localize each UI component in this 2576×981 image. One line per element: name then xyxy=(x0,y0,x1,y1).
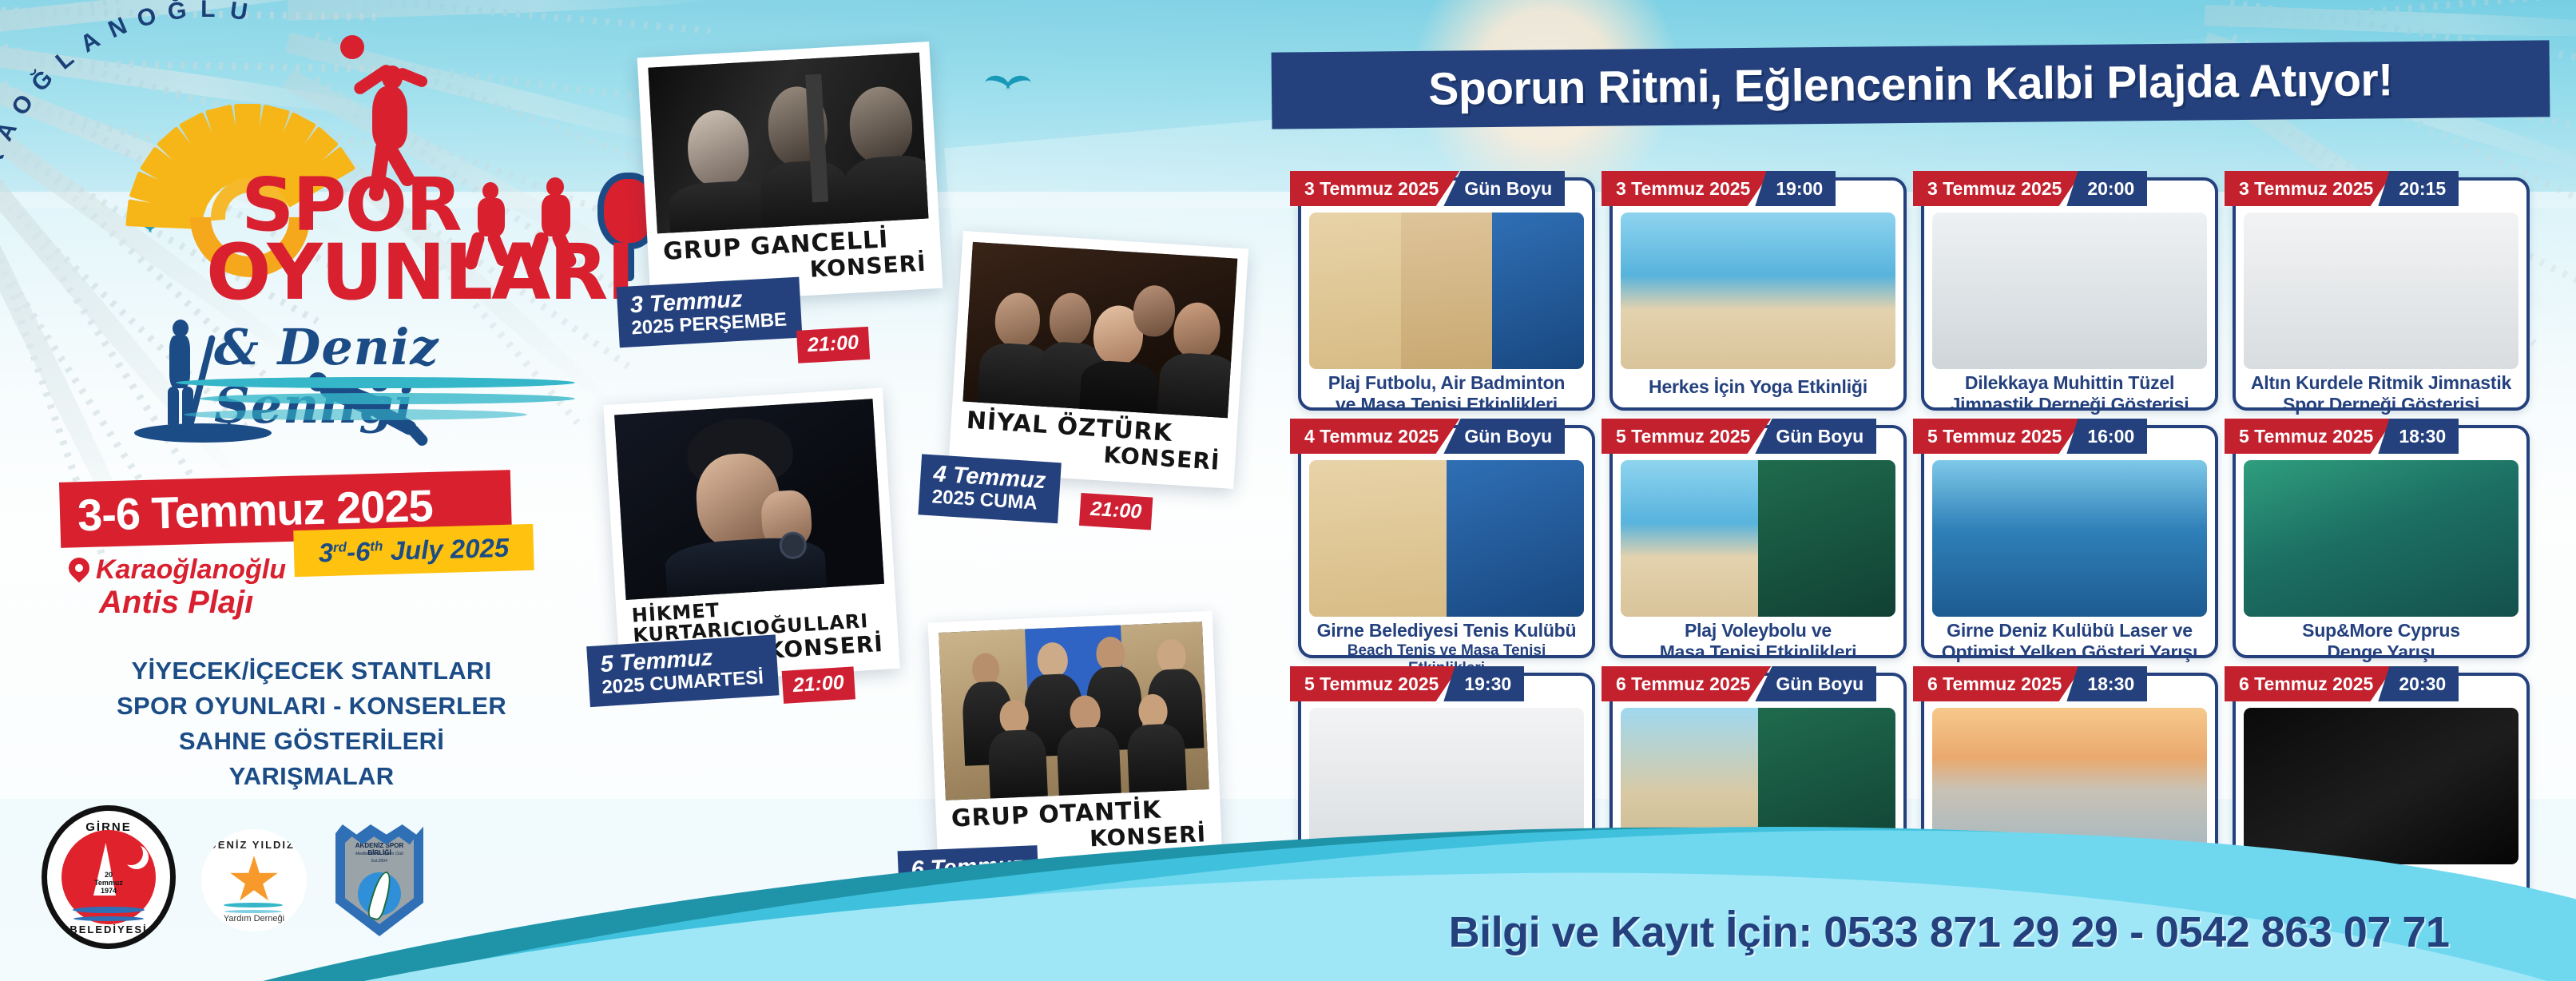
concert-time-badge: 21:00 xyxy=(782,666,855,704)
event-text: Dilekkaya Muhittin TüzelJimnastik Derneğ… xyxy=(1932,369,2207,415)
logo-wave-decor xyxy=(176,377,591,425)
event-date-ribbon: 4 Temmuz 2025 xyxy=(1290,419,1459,454)
event-date-ribbon: 5 Temmuz 2025 xyxy=(2225,419,2394,454)
arc-title-letter: L xyxy=(200,0,216,23)
event-text: Girne Deniz Kulübü Laser veOptimist Yelk… xyxy=(1932,617,2207,662)
concert-card[interactable]: HİKMET KURTARICIOĞULLARI KONSERİ 5 Temmu… xyxy=(603,387,899,685)
event-photo-panel xyxy=(2244,460,2518,617)
event-ribbons: 6 Temmuz 202518:30 xyxy=(1913,666,2220,701)
event-text: Altın Kurdele Ritmik JimnastikSpor Derne… xyxy=(2244,369,2518,415)
event-photo xyxy=(2244,212,2518,369)
event-title-line2: ve Masa Tenisi Etkinlikleri xyxy=(1336,394,1558,415)
date-ordinal-suffix: th xyxy=(370,538,383,554)
date-text-en: 3rd-6th July 2025 xyxy=(318,533,510,569)
concert-photo xyxy=(648,53,928,234)
event-ribbons: 5 Temmuz 202516:00 xyxy=(1913,419,2220,454)
date-banner-en: 3rd-6th July 2025 xyxy=(293,524,534,577)
event-card[interactable]: 4 Temmuz 2025Gün BoyuGirne Belediyesi Te… xyxy=(1298,425,1595,658)
event-time-ribbon: Gün Boyu xyxy=(1755,419,1876,454)
seagull-icon xyxy=(984,76,1032,97)
event-date-ribbon: 6 Temmuz 2025 xyxy=(1913,666,2082,701)
event-card[interactable]: 3 Temmuz 202520:15Altın Kurdele Ritmik J… xyxy=(2233,177,2530,411)
event-ribbons: 6 Temmuz 2025Gün Boyu xyxy=(1602,666,1908,701)
event-title: Herkes İçin Yoga Etkinliği xyxy=(1649,376,1868,398)
event-title: Plaj Futbolu, Air Badminton xyxy=(1328,372,1566,394)
location-line-1: Karaoğlanoğlu xyxy=(96,554,286,585)
event-time-ribbon: 20:30 xyxy=(2378,666,2459,701)
event-time-ribbon: Gün Boyu xyxy=(1443,419,1565,454)
arc-title-letter: A xyxy=(76,26,105,58)
event-card[interactable]: 3 Temmuz 2025Gün BoyuPlaj Futbolu, Air B… xyxy=(1298,177,1595,411)
event-ribbons: 6 Temmuz 202520:30 xyxy=(2225,666,2531,701)
event-photo-panel xyxy=(1401,212,1493,369)
concert-card[interactable]: NİYAL ÖZTÜRK KONSERİ 4 Temmuz 2025 CUMA … xyxy=(948,231,1248,489)
arc-title-letter: Ğ xyxy=(26,65,59,97)
logo-word-oyunlari: OYUNLARI xyxy=(206,238,633,307)
location-line-2: Antis Plajı xyxy=(99,585,286,621)
event-photo-panel xyxy=(1309,460,1447,617)
concert-photo xyxy=(963,242,1237,418)
event-card[interactable]: 3 Temmuz 202519:00Herkes İçin Yoga Etkin… xyxy=(1610,177,1907,411)
event-title: Girne Belediyesi Tenis Kulübü xyxy=(1317,620,1577,641)
event-date-ribbon: 5 Temmuz 2025 xyxy=(1913,419,2082,454)
arc-title-letter: U xyxy=(228,0,250,26)
event-card[interactable]: 3 Temmuz 202520:00Dilekkaya Muhittin Tüz… xyxy=(1921,177,2218,411)
event-title-line2: Optimist Yelken Gösteri Yarışı xyxy=(1942,641,2197,663)
feature-list-item: YİYECEK/İÇECEK STANTLARI xyxy=(88,653,535,689)
event-title-line2: Jimnastik Derneği Gösterisi xyxy=(1951,394,2189,415)
headline-text: Sporun Ritmi, Eğlencenin Kalbi Plajda At… xyxy=(1428,54,2393,116)
event-text: Girne Belediyesi Tenis KulübüBeach Tenis… xyxy=(1309,617,1584,677)
concert-card[interactable]: GRUP GANCELLİ KONSERİ 3 Temmuz 2025 PERŞ… xyxy=(637,42,943,304)
event-time-ribbon: Gün Boyu xyxy=(1755,666,1876,701)
festival-logo: KARAOĞLANOĞLU xyxy=(32,16,623,431)
event-title: Sup&More Cyprus xyxy=(2302,620,2460,641)
event-date-ribbon: 6 Temmuz 2025 xyxy=(2225,666,2394,701)
event-title-line2: Denge Yarışı xyxy=(2327,641,2435,663)
event-photo-panel xyxy=(1447,460,1584,617)
event-time-ribbon: 18:30 xyxy=(2066,666,2147,701)
concert-time-badge: 21:00 xyxy=(1079,493,1153,530)
event-title: Girne Deniz Kulübü Laser ve xyxy=(1947,620,2193,641)
event-photo-panel xyxy=(1932,212,2207,369)
event-photo-panel xyxy=(1492,212,1584,369)
concert-photo xyxy=(614,399,884,600)
event-poster: KARAOĞLANOĞLU xyxy=(0,0,2576,981)
event-time-ribbon: 18:30 xyxy=(2378,419,2459,454)
event-title-line2: Masa Tenisi Etkinlikleri xyxy=(1660,641,1857,663)
event-title-line2: Spor Derneği Gösterisi xyxy=(2283,394,2479,415)
event-text: Plaj Voleybolu veMasa Tenisi Etkinlikler… xyxy=(1621,617,1895,662)
concert-date-badge: 4 Temmuz 2025 CUMA xyxy=(918,454,1061,523)
event-photo xyxy=(2244,460,2518,617)
event-photo-panel xyxy=(1621,460,1758,617)
event-photo xyxy=(1309,460,1584,617)
date-part: 3 xyxy=(318,538,333,567)
date-part: July 2025 xyxy=(383,533,510,566)
event-photo-panel xyxy=(1621,212,1895,369)
concert-date-badge: 3 Temmuz 2025 PERŞEMBE xyxy=(617,277,803,348)
event-photo-panel xyxy=(1758,460,1895,617)
event-photo-panel xyxy=(2244,212,2518,369)
event-photo xyxy=(1932,460,2207,617)
event-photo xyxy=(1932,212,2207,369)
event-card[interactable]: 5 Temmuz 2025Gün BoyuPlaj Voleybolu veMa… xyxy=(1610,425,1907,658)
event-title: Altın Kurdele Ritmik Jimnastik xyxy=(2251,372,2511,394)
event-text: Sup&More CyprusDenge Yarışı xyxy=(2244,617,2518,662)
arc-title-letter: Ğ xyxy=(166,0,189,26)
event-time-ribbon: 16:00 xyxy=(2066,419,2147,454)
event-card[interactable]: 5 Temmuz 202518:30Sup&More CyprusDenge Y… xyxy=(2233,425,2530,658)
concert-time-badge: 21:00 xyxy=(796,327,870,363)
event-photo xyxy=(1621,460,1895,617)
event-photo-panel xyxy=(1932,460,2207,617)
event-text: Plaj Futbolu, Air Badmintonve Masa Tenis… xyxy=(1309,369,1584,415)
arc-title-letter: N xyxy=(105,12,132,44)
event-photo xyxy=(1309,212,1584,369)
event-date-ribbon: 5 Temmuz 2025 xyxy=(1602,419,1771,454)
event-ribbons: 4 Temmuz 2025Gün Boyu xyxy=(1290,419,1597,454)
contact-text[interactable]: Bilgi ve Kayıt İçin: 0533 871 29 29 - 05… xyxy=(1449,908,2450,956)
date-ordinal-suffix: rd xyxy=(333,539,347,554)
event-photo-panel xyxy=(1309,212,1401,369)
event-date-ribbon: 6 Temmuz 2025 xyxy=(1602,666,1771,701)
event-title: Dilekkaya Muhittin Tüzel xyxy=(1965,372,2174,394)
contact-bar: Bilgi ve Kayıt İçin: 0533 871 29 29 - 05… xyxy=(1358,908,2540,957)
event-photo xyxy=(1621,212,1895,369)
arc-title-letter: L xyxy=(51,45,80,76)
concert-date-badge: 5 Temmuz 2025 CUMARTESİ xyxy=(586,634,779,707)
event-ribbons: 5 Temmuz 202518:30 xyxy=(2225,419,2531,454)
event-ribbons: 5 Temmuz 2025Gün Boyu xyxy=(1602,419,1908,454)
headline-banner: Sporun Ritmi, Eğlencenin Kalbi Plajda At… xyxy=(1272,40,2550,129)
event-text: Herkes İçin Yoga Etkinliği xyxy=(1621,369,1895,401)
event-title: Plaj Voleybolu ve xyxy=(1685,620,1832,641)
event-card[interactable]: 5 Temmuz 202516:00Girne Deniz Kulübü Las… xyxy=(1921,425,2218,658)
location-block: Karaoğlanoğlu Antis Plajı xyxy=(96,554,286,621)
date-part: 6 xyxy=(355,537,371,566)
